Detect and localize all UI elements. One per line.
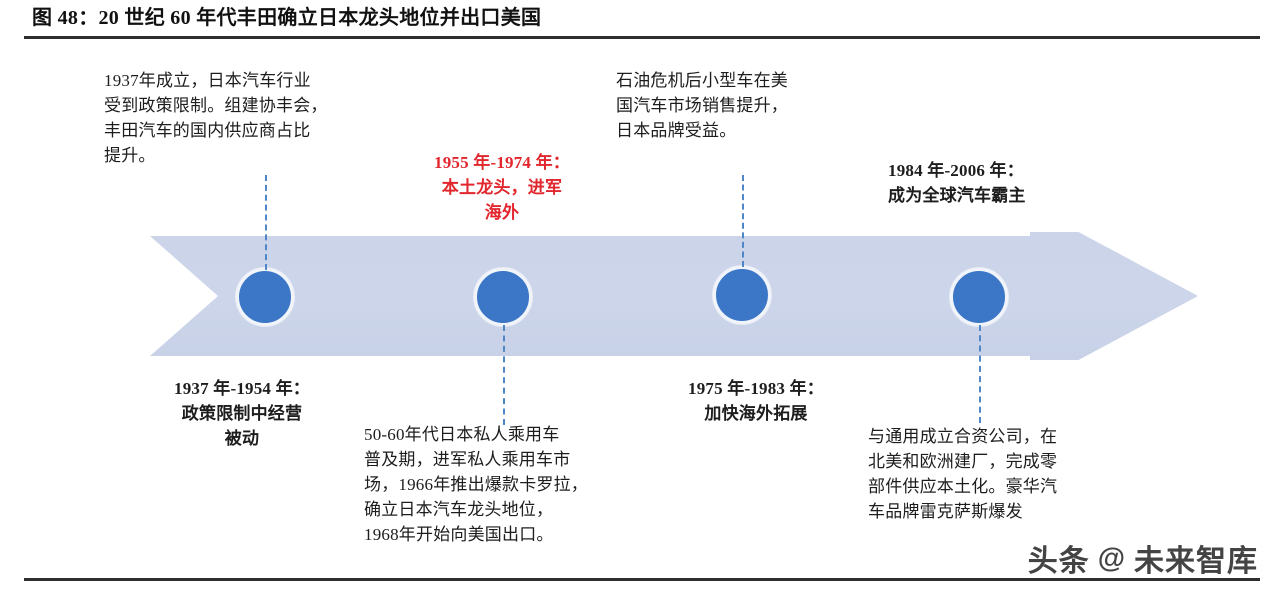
timeline-node-2[interactable] <box>474 268 532 326</box>
connector-line-1 <box>265 175 267 270</box>
watermark-at-icon: @ <box>1098 544 1126 572</box>
node-1-period-label: 1937 年-1954 年：政策限制中经营被动 <box>142 376 342 451</box>
title-divider <box>24 36 1260 39</box>
node-3-period-label: 1975 年-1983 年：加快海外拓展 <box>660 376 852 426</box>
watermark-account: 未来智库 <box>1134 536 1258 580</box>
figure-canvas: 图 48：20 世纪 60 年代丰田确立日本龙头地位并出口美国 1937年成立，… <box>0 0 1282 596</box>
node-2-period-label: 1955 年-1974 年：本土龙头，进军海外 <box>404 150 600 225</box>
page-title: 图 48：20 世纪 60 年代丰田确立日本龙头地位并出口美国 <box>32 4 1252 34</box>
node-3-description: 石油危机后小型车在美国汽车市场销售提升，日本品牌受益。 <box>616 68 884 143</box>
node-4-period-label: 1984 年-2006 年：成为全球汽车霸主 <box>888 158 1118 208</box>
node-2-description: 50-60年代日本私人乘用车普及期，进军私人乘用车市场，1966年推出爆款卡罗拉… <box>364 422 664 547</box>
footer-divider <box>24 578 1260 581</box>
watermark-brand: 头条 <box>1028 536 1090 580</box>
node-4-description: 与通用成立合资公司，在北美和欧洲建厂，完成零部件供应本土化。豪华汽车品牌雷克萨斯… <box>868 424 1136 524</box>
watermark: 头条 @ 未来智库 <box>1000 540 1258 576</box>
timeline-arrow <box>150 232 1200 360</box>
timeline-node-1[interactable] <box>236 268 294 326</box>
connector-line-4 <box>979 325 981 423</box>
connector-line-3 <box>742 175 744 267</box>
timeline-node-3[interactable] <box>713 266 771 324</box>
connector-line-2 <box>503 325 505 425</box>
timeline-node-4[interactable] <box>950 268 1008 326</box>
node-1-description: 1937年成立，日本汽车行业受到政策限制。组建协丰会，丰田汽车的国内供应商占比提… <box>104 68 404 168</box>
